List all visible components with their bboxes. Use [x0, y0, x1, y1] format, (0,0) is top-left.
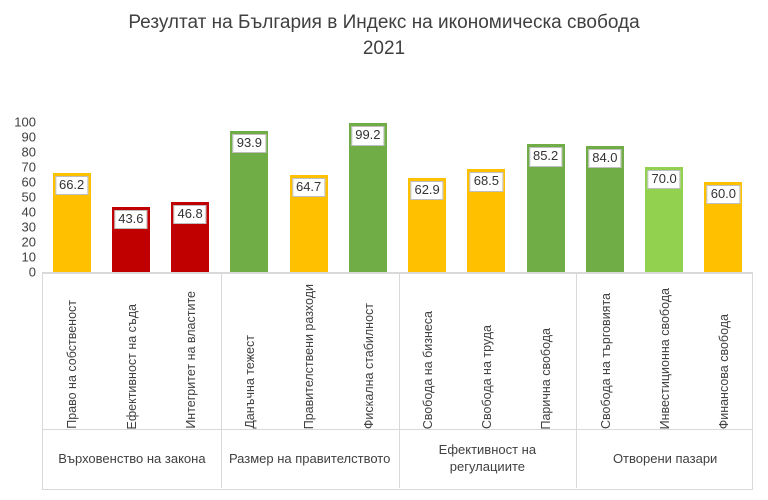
group-label-cell: Ефективност на регулациите [399, 430, 577, 488]
bar-slot: 85.2 [527, 122, 565, 272]
group-separator [221, 274, 222, 429]
category-label-cell: Право на собственост [43, 274, 102, 429]
chart-title: Резултат на България в Индекс на икономи… [0, 10, 768, 61]
group-label: Ефективност на регулациите [403, 442, 573, 476]
category-label: Интегритет на властите [185, 289, 198, 429]
bar[interactable]: 84.0 [586, 146, 624, 272]
bar-slot: 68.5 [467, 122, 505, 272]
group-separator [576, 274, 577, 429]
bar-value-label: 64.7 [292, 178, 325, 197]
bar-value-label: 84.0 [588, 149, 621, 168]
bar-value-label: 99.2 [351, 126, 384, 145]
category-label-cell: Интегритет на властите [162, 274, 221, 429]
y-axis-tick: 50 [0, 191, 36, 204]
y-axis: 1009080706050403020100 [0, 115, 36, 279]
bar[interactable]: 46.8 [171, 202, 209, 272]
bar-value-label: 62.9 [410, 181, 443, 200]
y-axis-tick: 100 [0, 116, 36, 129]
bar-slot: 93.9 [230, 122, 268, 272]
category-label: Свобода на бизнеса [422, 309, 435, 429]
bar[interactable]: 70.0 [645, 167, 683, 272]
category-label-cell: Свобода на търговията [576, 274, 635, 429]
category-label: Данъчна тежест [244, 333, 257, 429]
bar-slot: 46.8 [171, 122, 209, 272]
bar-slot: 62.9 [408, 122, 446, 272]
category-label: Парична свобода [540, 326, 553, 430]
bar[interactable]: 60.0 [704, 182, 742, 272]
category-label: Правителствени разходи [303, 282, 316, 429]
chart-title-line2: 2021 [0, 36, 768, 62]
category-label-cell: Свобода на бизнеса [399, 274, 458, 429]
bar[interactable]: 68.5 [467, 169, 505, 272]
bar-slot: 99.2 [349, 122, 387, 272]
bar[interactable]: 93.9 [230, 131, 268, 272]
bar-slot: 70.0 [645, 122, 683, 272]
y-axis-tick: 60 [0, 176, 36, 189]
y-axis-tick: 90 [0, 131, 36, 144]
category-label-cell: Финансова свобода [695, 274, 754, 429]
bar-value-label: 66.2 [55, 176, 88, 195]
bar[interactable]: 66.2 [53, 173, 91, 272]
bar[interactable]: 62.9 [408, 178, 446, 272]
bar-series: 66.243.646.893.964.799.262.968.585.284.0… [42, 122, 753, 272]
y-axis-tick: 0 [0, 266, 36, 279]
bar-slot: 66.2 [53, 122, 91, 272]
category-label: Свобода на търговията [600, 291, 613, 429]
category-label: Фискална стабилност [363, 301, 376, 429]
y-axis-tick: 80 [0, 146, 36, 159]
group-label: Отворени пазари [613, 451, 717, 468]
bar-slot: 64.7 [290, 122, 328, 272]
y-axis-tick: 40 [0, 206, 36, 219]
bar[interactable]: 64.7 [290, 175, 328, 272]
group-label: Върховенство на закона [58, 451, 205, 468]
bar-value-label: 60.0 [707, 185, 740, 204]
group-label-cell: Размер на правителството [221, 430, 399, 488]
category-label-cell: Парична свобода [517, 274, 576, 429]
category-label: Ефективност на съда [126, 302, 139, 429]
y-axis-tick: 70 [0, 161, 36, 174]
y-axis-tick: 10 [0, 251, 36, 264]
bar-value-label: 46.8 [173, 205, 206, 224]
chart-title-line1: Резултат на България в Индекс на икономи… [128, 12, 639, 33]
bar-value-label: 70.0 [647, 170, 680, 189]
group-label-cell: Отворени пазари [576, 430, 754, 488]
category-label-cell: Данъчна тежест [221, 274, 280, 429]
group-label-table: Върховенство на законаРазмер на правител… [42, 430, 753, 490]
category-label: Свобода на труда [481, 323, 494, 429]
category-label: Инвестиционна свобода [659, 286, 672, 429]
group-label-cell: Върховенство на закона [43, 430, 221, 488]
bar-value-label: 43.6 [114, 210, 147, 229]
bar-value-label: 93.9 [233, 134, 266, 153]
bar[interactable]: 43.6 [112, 207, 150, 272]
category-label: Право на собственост [66, 298, 79, 429]
category-label-cell: Ефективност на съда [102, 274, 161, 429]
category-label-cell: Свобода на труда [458, 274, 517, 429]
bar-slot: 60.0 [704, 122, 742, 272]
bar-slot: 84.0 [586, 122, 624, 272]
category-label-table: Право на собственостЕфективност на съдаИ… [42, 273, 753, 430]
bar-slot: 43.6 [112, 122, 150, 272]
bar[interactable]: 99.2 [349, 123, 387, 272]
category-label-cell: Инвестиционна свобода [636, 274, 695, 429]
bar-value-label: 85.2 [529, 147, 562, 166]
y-axis-tick: 30 [0, 221, 36, 234]
group-separator [399, 274, 400, 429]
group-label: Размер на правителството [229, 451, 390, 468]
category-label-cell: Правителствени разходи [280, 274, 339, 429]
bar[interactable]: 85.2 [527, 144, 565, 272]
bar-value-label: 68.5 [470, 172, 503, 191]
category-label-cell: Фискална стабилност [339, 274, 398, 429]
category-label: Финансова свобода [718, 312, 731, 429]
y-axis-tick: 20 [0, 236, 36, 249]
